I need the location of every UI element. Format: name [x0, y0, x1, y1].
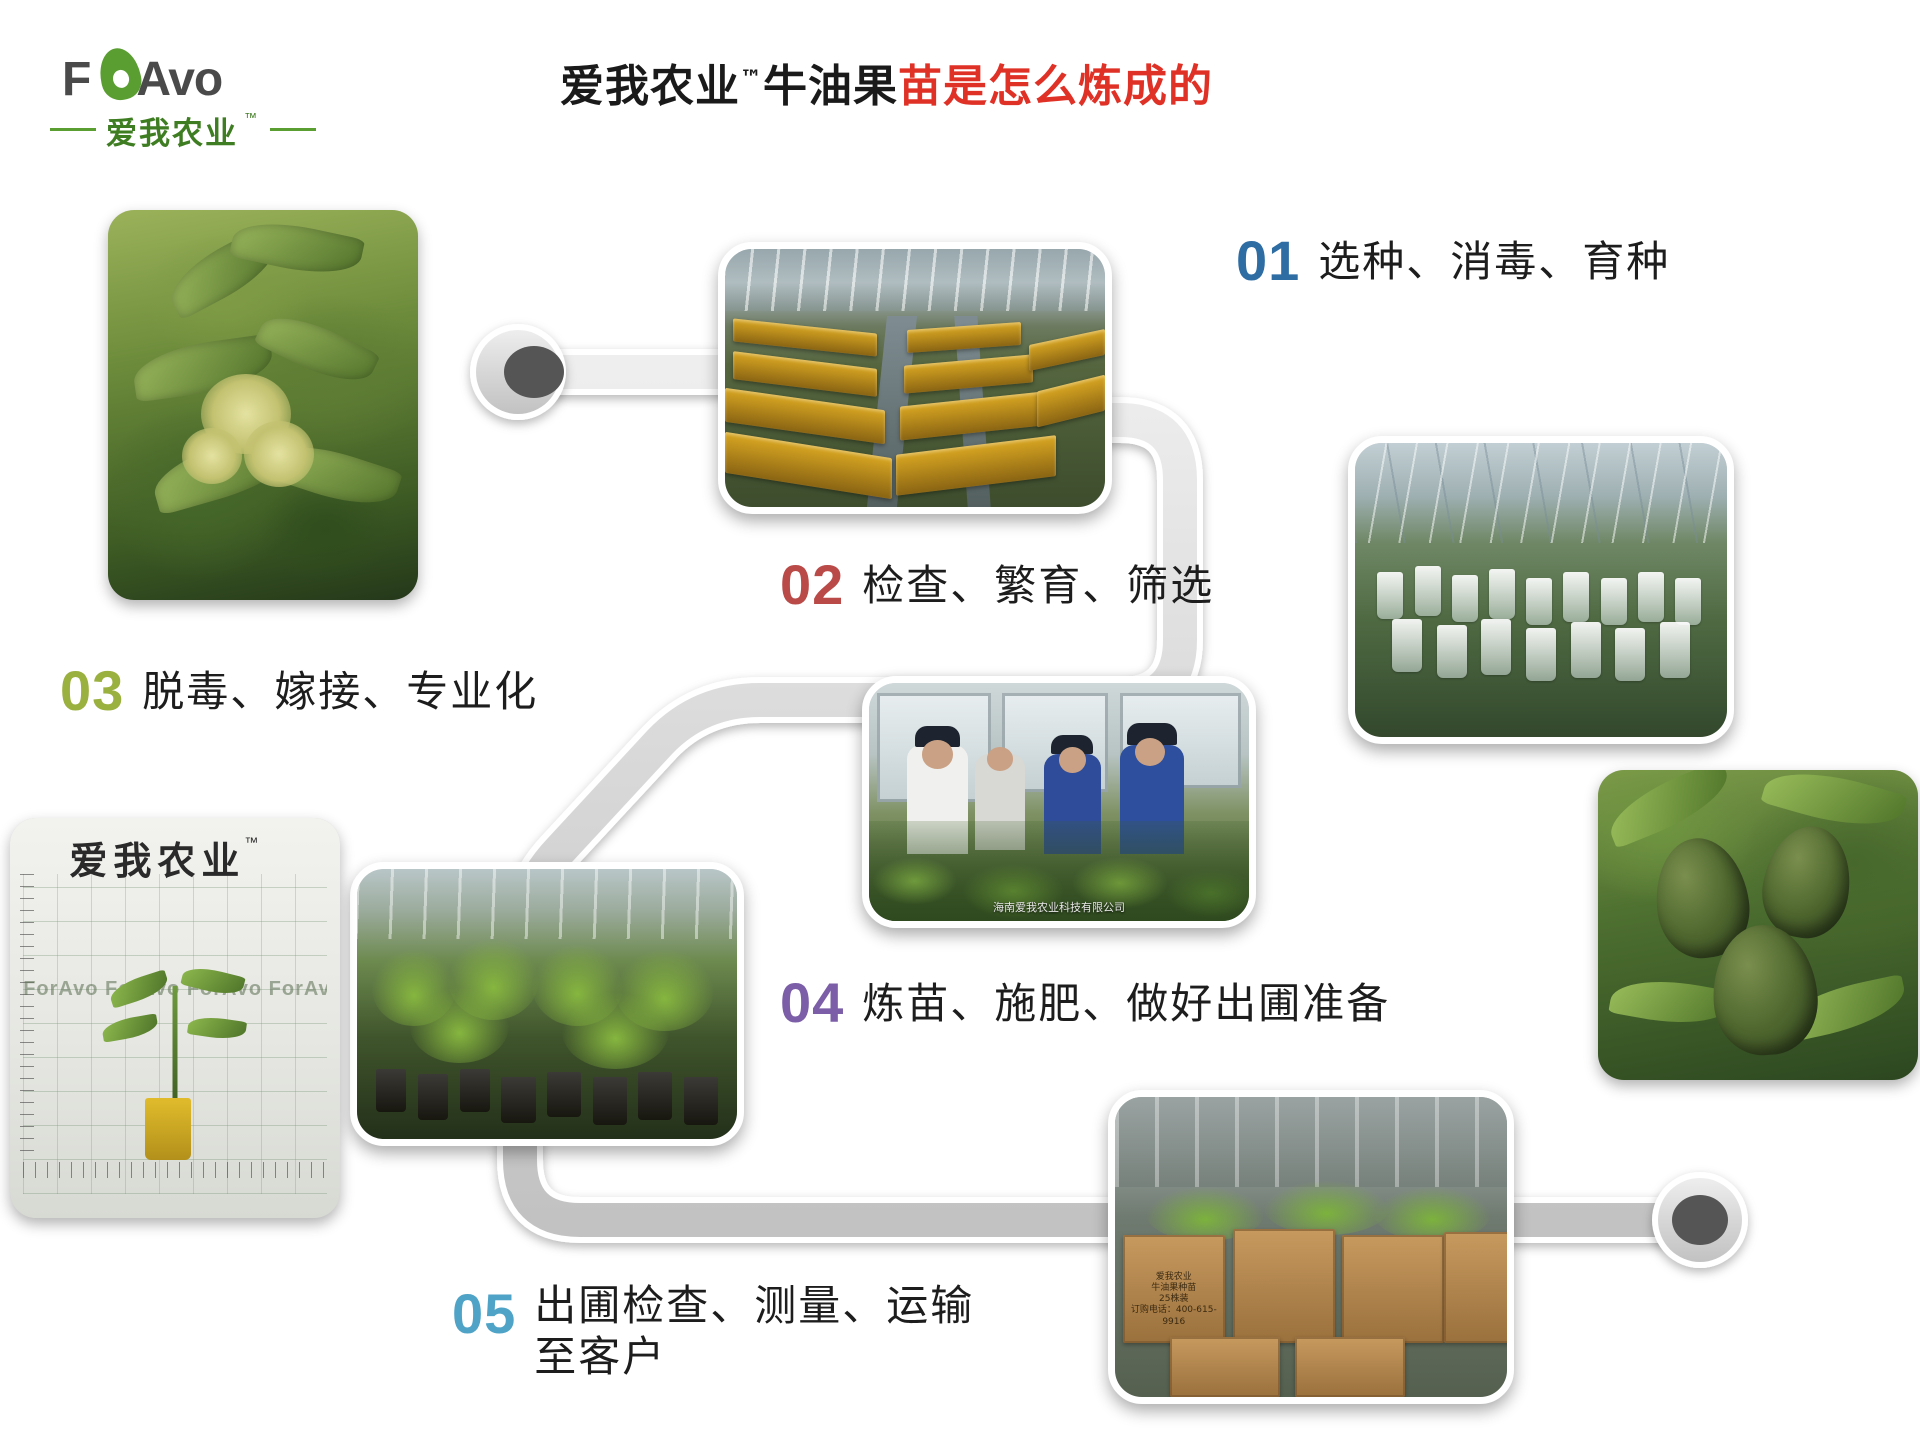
step-02: 02检查、繁育、筛选: [780, 552, 1214, 617]
step-05-number: 05: [452, 1282, 516, 1345]
step-03-number: 03: [60, 659, 124, 722]
photo-inspection-team: 海南爱我农业科技有限公司: [862, 676, 1256, 928]
step-05-text: 出圃检查、测量、运输 至客户: [534, 1280, 974, 1382]
board-brand-text: 爱我农业: [69, 830, 245, 885]
step-02-text: 检查、繁育、筛选: [862, 561, 1214, 610]
step-01-text: 选种、消毒、育种: [1318, 237, 1670, 286]
step-05: 05出圃检查、测量、运输 至客户: [452, 1280, 974, 1382]
photo-packing-boxes-image: 爱我农业 牛油果种苗 25株装 订购电话：400-615-9916: [1115, 1097, 1507, 1397]
photo-measured-seedling-image: 爱我农业 ™ ForAvo ForAvo ForAvo ForAvo: [10, 818, 340, 1218]
avocado-fruit-art: [1598, 770, 1918, 1080]
connector-start-node: [470, 324, 566, 420]
greenhouse-roof: [725, 249, 1105, 311]
board-brand-tm: ™: [244, 834, 258, 850]
connector-end-node: [1652, 1172, 1748, 1268]
photo-avocado-fruit-image: [1598, 770, 1918, 1080]
photo-avocado-fruit: [1598, 770, 1918, 1080]
horizontal-ruler-ticks: [23, 1162, 327, 1178]
potted-seedlings-art: [357, 869, 737, 1139]
greenhouse-truss: [1355, 443, 1727, 543]
photo-caption-watermark: 海南爱我农业科技有限公司: [869, 899, 1249, 915]
photo-grafting-bags: [1348, 436, 1734, 744]
photo-measured-seedling: 爱我农业 ™ ForAvo ForAvo ForAvo ForAvo: [10, 818, 340, 1218]
photo-potted-seedlings: [350, 862, 744, 1146]
step-04-text: 炼苗、施肥、做好出圃准备: [862, 979, 1390, 1028]
nursery-frame: [357, 869, 737, 939]
step-03-text: 脱毒、嫁接、专业化: [142, 667, 538, 716]
photo-grafting-bags-image: [1355, 443, 1727, 737]
step-04-number: 04: [780, 971, 844, 1034]
packing-boxes-art: 爱我农业 牛油果种苗 25株装 订购电话：400-615-9916: [1115, 1097, 1507, 1397]
step-02-number: 02: [780, 553, 844, 616]
inspection-team-art: [869, 683, 1249, 921]
seed-trays-art: [725, 249, 1105, 507]
step-01: 01选种、消毒、育种: [1236, 228, 1670, 293]
step-04: 04炼苗、施肥、做好出圃准备: [780, 970, 1390, 1035]
step-03: 03脱毒、嫁接、专业化: [60, 658, 538, 723]
photo-seed-trays: [718, 242, 1112, 514]
grafting-bags-art: [1355, 443, 1727, 737]
step-01-number: 01: [1236, 229, 1300, 292]
vertical-ruler-ticks: [20, 874, 34, 1154]
box-label: 爱我农业 牛油果种苗 25株装 订购电话：400-615-9916: [1129, 1272, 1219, 1328]
background-building: [1115, 1097, 1507, 1187]
flowering-branch-art: [108, 210, 418, 600]
photo-flowering-branch: [108, 210, 418, 600]
photo-flowering-branch-image: [108, 210, 418, 600]
measured-seedling-art: 爱我农业 ™ ForAvo ForAvo ForAvo ForAvo: [10, 818, 340, 1218]
photo-inspection-team-image: 海南爱我农业科技有限公司: [869, 683, 1249, 921]
photo-potted-seedlings-image: [357, 869, 737, 1139]
photo-packing-boxes: 爱我农业 牛油果种苗 25株装 订购电话：400-615-9916: [1108, 1090, 1514, 1404]
photo-seed-trays-image: [725, 249, 1105, 507]
